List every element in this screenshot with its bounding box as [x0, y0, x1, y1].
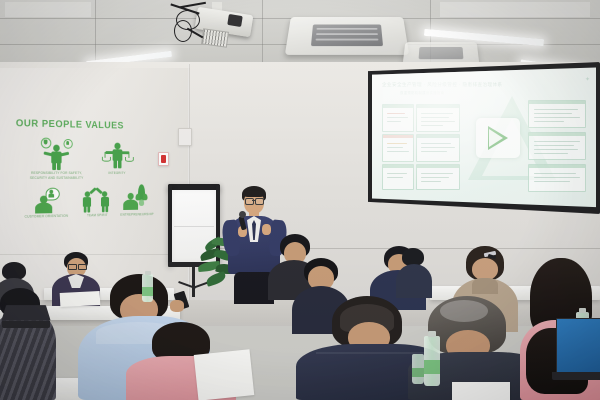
notebook — [60, 291, 101, 307]
water-bottle — [412, 354, 424, 384]
values-heading: OUR PEOPLE VALUES — [16, 118, 124, 131]
value-label-customer: CUSTOMER ORIENTATION — [16, 214, 77, 219]
laptop — [556, 318, 600, 380]
wall-values-graphic: OUR PEOPLE VALUES RESPONSIBILITY FOR SAF… — [8, 112, 153, 237]
value-icon-customer — [33, 188, 67, 214]
projector-assembly — [168, 2, 276, 60]
notebook — [452, 382, 510, 400]
laptop — [4, 302, 48, 330]
value-label-responsibility: RESPONSIBILITY FOR SAFETY, — [10, 171, 102, 175]
projection-screen: 企业安全生产管理 · 风险分级管控 · 隐患排查治理体系 双重预防机制建设实施指… — [368, 62, 600, 214]
value-icon-integrity — [102, 139, 132, 171]
value-icon-entrepreneurship — [123, 184, 151, 212]
presenter-glasses-right — [255, 198, 264, 205]
projected-slide: 企业安全生产管理 · 风险分级管控 · 隐患排查治理体系 双重预防机制建设实施指… — [372, 66, 596, 210]
laptop-screen[interactable] — [556, 318, 600, 374]
projector-lens — [227, 14, 243, 27]
projector-vent — [201, 28, 229, 47]
value-label-responsibility-line2: SECURITY AND SUSTAINABILITY — [10, 176, 102, 180]
value-icon-responsibility — [39, 137, 75, 171]
wall-mounted-box — [178, 128, 192, 146]
hand — [170, 300, 184, 312]
notebook — [194, 349, 255, 400]
microphone-head — [239, 211, 246, 218]
water-bottle — [142, 274, 153, 302]
audience-member — [396, 248, 432, 298]
value-label-team: TEAM SPIRIT — [80, 213, 114, 218]
value-label-integrity: INTEGRITY — [102, 171, 132, 175]
fire-alarm-icon — [158, 152, 169, 166]
water-bottle — [424, 336, 440, 386]
value-label-entrepreneurship: ENTREPRENEURSHIP — [118, 212, 156, 217]
value-icon-team — [82, 186, 113, 212]
ceiling-air-conditioner — [285, 17, 409, 55]
conference-room-photo: OUR PEOPLE VALUES RESPONSIBILITY FOR SAF… — [0, 0, 600, 400]
